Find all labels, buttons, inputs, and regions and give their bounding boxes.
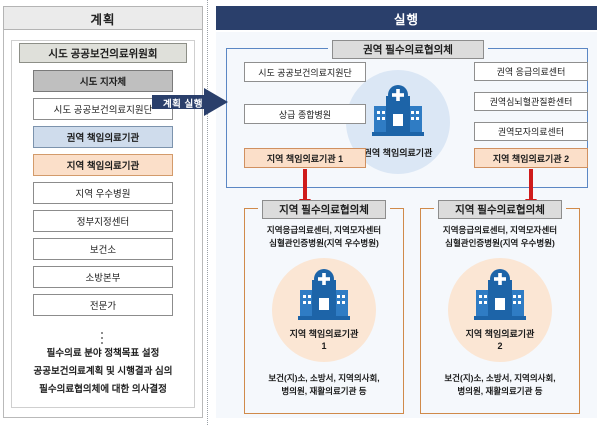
region-box-sido-public-health-support: 시도 공공보건의료지원단 [244, 62, 366, 82]
plan-execution-arrow: 계획 실행 [152, 88, 228, 116]
local-2-top-line-1: 지역응급의료센터, 지역모자센터 [420, 224, 580, 237]
local-2-bottom-line-2: 병의원, 재활의료기관 등 [420, 385, 580, 398]
plan-committee-box: 시도 공공보건의료위원회 [19, 43, 187, 63]
local-1-bottom-line-2: 병의원, 재활의료기관 등 [244, 385, 404, 398]
region-box-tertiary-general-hospital: 상급 종합병원 [244, 104, 366, 124]
region-box-local-responsible-institution-2: 지역 책임의료기관 2 [474, 148, 588, 168]
region-box-local-responsible-institution-1: 지역 책임의료기관 1 [244, 148, 366, 168]
local-council-bottom-lines-1: 보건(지)소, 소방서, 지역의사회, 병의원, 재활의료기관 등 [244, 372, 404, 398]
panel-divider [207, 0, 208, 425]
hospital-icon [372, 84, 424, 145]
local-2-bottom-line-1: 보건(지)소, 소방서, 지역의사회, [420, 372, 580, 385]
vertical-ellipsis-icon [100, 332, 104, 344]
plan-execution-arrow-label: 계획 실행 [158, 96, 208, 110]
local-hub-caption-2: 지역 책임의료기관 2 [448, 328, 552, 352]
diagram-root: 계획 시도 공공보건의료위원회 시도 지자체 시도 공공보건의료지원단 권역 책… [0, 0, 600, 425]
local-council-bottom-lines-2: 보건(지)소, 소방서, 지역의사회, 병의원, 재활의료기관 등 [420, 372, 580, 398]
region-box-maternal-child-center: 권역모자의료센터 [474, 122, 588, 141]
plan-summary-line-1: 필수의료 분야 정책목표 설정 [47, 345, 160, 359]
plan-summary-line-2: 공공보건의료계획 및 시행결과 심의 [33, 363, 172, 377]
region-box-cardio-cerebrovascular-center: 권역심뇌혈관질환센터 [474, 92, 588, 111]
hospital-icon [474, 268, 526, 329]
plan-header: 계획 [3, 6, 203, 30]
local-council-title-1: 지역 필수의료협의체 [262, 200, 386, 219]
plan-item-government-designated-center: 정부지정센터 [33, 210, 173, 232]
hospital-icon [298, 268, 350, 329]
local-hub-2: 지역 책임의료기관 2 [448, 258, 552, 368]
plan-item-expert: 전문가 [33, 294, 173, 316]
plan-item-local-excellent-hospital: 지역 우수병원 [33, 182, 173, 204]
plan-summary-line-3: 필수의료협의체에 대한 의사결정 [39, 381, 167, 395]
local-council-title-2: 지역 필수의료협의체 [438, 200, 562, 219]
plan-summary: 필수의료 분야 정책목표 설정 공공보건의료계획 및 시행결과 심의 필수의료협… [18, 345, 188, 395]
plan-item-fire-department: 소방본부 [33, 266, 173, 288]
local-hub-caption-text-2: 지역 책임의료기관 [466, 329, 535, 339]
local-1-top-line-1: 지역응급의료센터, 지역모자센터 [244, 224, 404, 237]
local-hub-number-1: 1 [321, 341, 326, 351]
execution-header: 실행 [216, 6, 597, 30]
plan-item-local-responsible-institution: 지역 책임의료기관 [33, 154, 173, 176]
region-box-regional-emergency-center: 권역 응급의료센터 [474, 62, 588, 81]
local-hub-number-2: 2 [497, 341, 502, 351]
plan-item-regional-responsible-institution: 권역 책임의료기관 [33, 126, 173, 148]
local-hub-caption-1: 지역 책임의료기관 1 [272, 328, 376, 352]
local-1-bottom-line-1: 보건(지)소, 소방서, 지역의사회, [244, 372, 404, 385]
local-2-top-line-2: 심혈관인증병원(지역 우수병원) [420, 237, 580, 250]
local-council-top-lines-1: 지역응급의료센터, 지역모자센터 심혈관인증병원(지역 우수병원) [244, 224, 404, 250]
regional-council-title: 권역 필수의료협의체 [332, 40, 484, 59]
local-council-top-lines-2: 지역응급의료센터, 지역모자센터 심혈관인증병원(지역 우수병원) [420, 224, 580, 250]
plan-item-public-health-center: 보건소 [33, 238, 173, 260]
local-hub-1: 지역 책임의료기관 1 [272, 258, 376, 368]
local-1-top-line-2: 심혈관인증병원(지역 우수병원) [244, 237, 404, 250]
local-hub-caption-text-1: 지역 책임의료기관 [290, 329, 359, 339]
